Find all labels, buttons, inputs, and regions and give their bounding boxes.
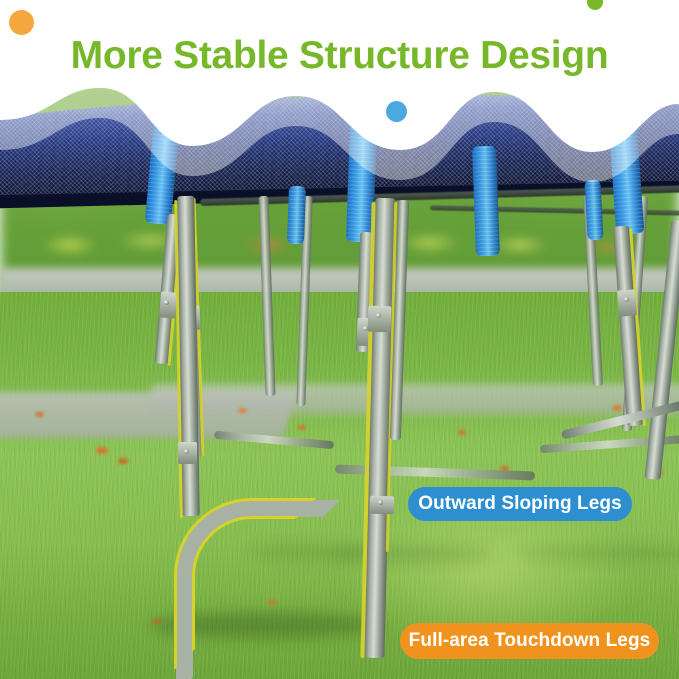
leg-clamp bbox=[617, 289, 637, 316]
leg-bolt bbox=[378, 500, 383, 505]
leaf bbox=[35, 412, 44, 417]
leg-bolt bbox=[164, 300, 169, 305]
product-feature-banner: More Stable Structure Design Outward Slo… bbox=[0, 0, 679, 679]
leaf bbox=[298, 425, 306, 430]
badge-full-area-touchdown-legs: Full-area Touchdown Legs bbox=[400, 623, 659, 659]
leaf bbox=[118, 458, 128, 464]
product-photo bbox=[0, 0, 679, 679]
page-title: More Stable Structure Design bbox=[0, 34, 679, 78]
orange-dot-icon bbox=[9, 10, 34, 35]
leg-clamp bbox=[370, 496, 394, 515]
leg-foam-pad-texture bbox=[287, 186, 306, 245]
concrete-slab-far bbox=[147, 384, 679, 414]
badge-outward-sloping-legs: Outward Sloping Legs bbox=[408, 487, 632, 521]
leg-bolt bbox=[184, 449, 189, 454]
leg-clamp bbox=[368, 306, 392, 333]
badge-label: Full-area Touchdown Legs bbox=[409, 630, 651, 652]
leg-bolt bbox=[376, 313, 381, 318]
blue-dot-icon bbox=[386, 101, 407, 122]
leaf bbox=[612, 405, 622, 411]
leg-clamp bbox=[159, 291, 177, 318]
leg-foam-pad-texture bbox=[472, 146, 500, 257]
leaf bbox=[96, 447, 108, 454]
badge-label: Outward Sloping Legs bbox=[418, 493, 622, 515]
leaf bbox=[458, 430, 466, 435]
leg-foam-pad-texture bbox=[584, 180, 603, 241]
leaf bbox=[238, 408, 247, 413]
leg-bolt bbox=[624, 297, 629, 302]
background-flower-highlights bbox=[0, 215, 679, 275]
leg-foot-curve-yellow-inner bbox=[192, 516, 298, 652]
